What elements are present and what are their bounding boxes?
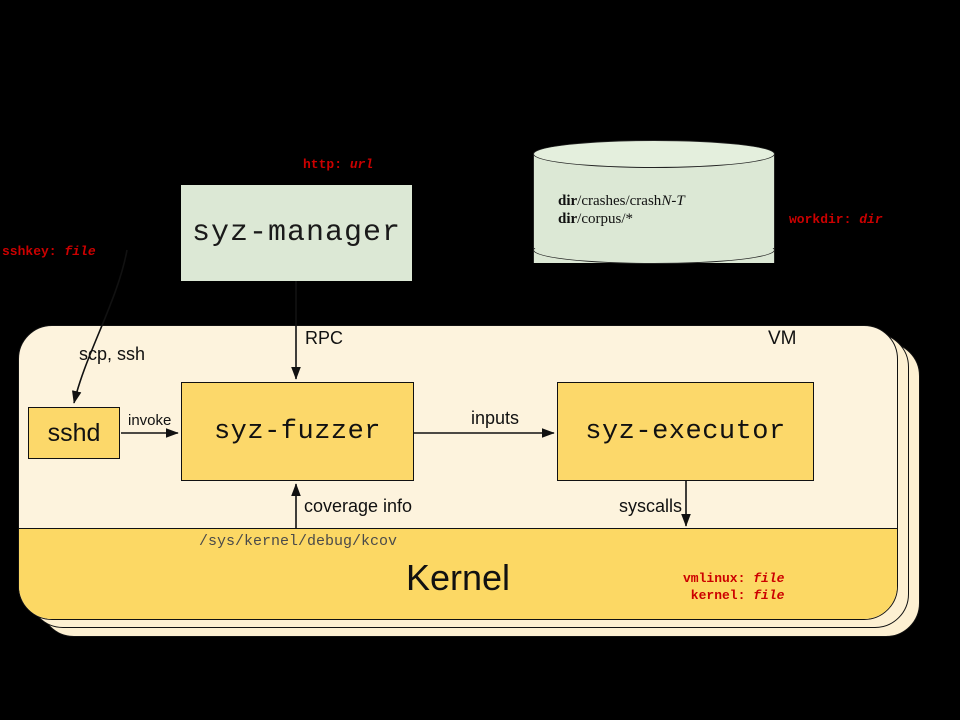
corpus-path-rest: /corpus/* xyxy=(577,211,633,227)
edge-label-inputs: inputs xyxy=(471,408,519,429)
syz-fuzzer-box: syz-fuzzer xyxy=(181,382,414,481)
sshd-box: sshd xyxy=(28,407,120,459)
syz-manager-label: syz-manager xyxy=(181,185,412,281)
cylinder-top-ellipse xyxy=(533,140,775,168)
corpus-path-bold: dir xyxy=(558,211,577,227)
edge-label-scp-ssh: scp, ssh xyxy=(79,344,145,365)
workdir-paths: dir/crashes/crashN-T dir/corpus/* xyxy=(558,192,685,228)
workdir-annotation: workdir: dir xyxy=(789,212,883,227)
edge-label-rpc: RPC xyxy=(305,328,343,349)
http-url-annotation: http: url xyxy=(303,157,373,172)
sshd-label: sshd xyxy=(48,419,101,448)
kcov-path-label: /sys/kernel/debug/kcov xyxy=(199,533,397,550)
kernel-key: kernel: xyxy=(691,588,753,603)
edge-label-invoke: invoke xyxy=(128,412,171,429)
http-value: url xyxy=(350,157,373,172)
syz-executor-label: syz-executor xyxy=(585,417,785,447)
vmlinux-value: file xyxy=(753,571,784,586)
workdir-cylinder: dir/crashes/crashN-T dir/corpus/* xyxy=(533,140,777,278)
kernel-box: /sys/kernel/debug/kcov Kernel vmlinux: f… xyxy=(19,528,897,620)
diagram-canvas: /sys/kernel/debug/kcov Kernel vmlinux: f… xyxy=(0,0,960,720)
vmlinux-key: vmlinux: xyxy=(683,571,753,586)
kernel-file-annotations: vmlinux: file kernel: file xyxy=(683,570,784,604)
kernel-value: file xyxy=(753,588,784,603)
sshkey-annotation: sshkey: file xyxy=(2,244,96,259)
vm-label: VM xyxy=(768,328,797,350)
http-key: http: xyxy=(303,157,350,172)
workdir-key: workdir: xyxy=(789,212,859,227)
syz-manager-box: syz-manager xyxy=(181,185,412,281)
sshkey-value: file xyxy=(64,244,95,259)
crash-path-bold: dir xyxy=(558,193,577,209)
cylinder-seam-mask xyxy=(534,226,774,248)
edge-label-coverage-info: coverage info xyxy=(304,496,412,517)
crash-path-rest: /crashes/crash xyxy=(577,193,661,209)
workdir-value: dir xyxy=(859,212,882,227)
syz-executor-box: syz-executor xyxy=(557,382,814,481)
edge-label-syscalls: syscalls xyxy=(619,496,682,517)
syz-fuzzer-label: syz-fuzzer xyxy=(214,417,381,447)
crash-path-italic: N-T xyxy=(661,193,684,209)
sshkey-key: sshkey: xyxy=(2,244,64,259)
